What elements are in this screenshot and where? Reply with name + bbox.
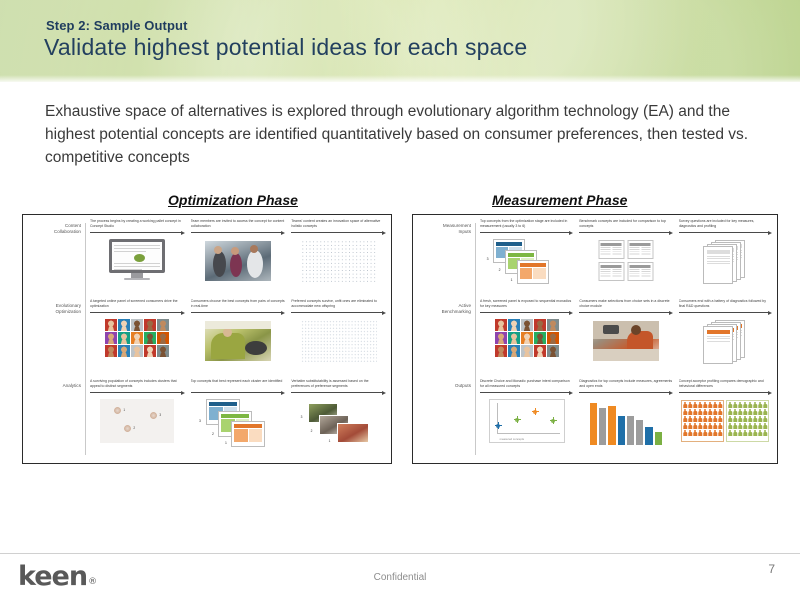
cell-caption: Preferred concepts survive, unfit ones a…: [291, 299, 386, 309]
consumer-panel-faces: [480, 317, 573, 369]
chart-bar: [627, 416, 634, 445]
arrow-icon: [191, 230, 286, 235]
face-thumbnail: [521, 319, 533, 331]
row-label-line: Content: [65, 223, 81, 228]
header-kicker: Step 2: Sample Output: [46, 18, 188, 33]
face-thumbnail: [547, 319, 559, 331]
person-icon: [748, 402, 752, 408]
arrow-icon: [579, 230, 672, 235]
face-thumbnail: [521, 345, 533, 357]
arrow-icon: [191, 310, 286, 315]
face-thumbnail: [157, 332, 169, 344]
person-icon: [693, 416, 697, 422]
person-icon: [683, 402, 687, 408]
face-thumbnail: [144, 345, 156, 357]
row-label-line: Benchmarking: [442, 309, 471, 314]
cell-caption: Concept acceptor profiling compares demo…: [679, 379, 772, 389]
panel-cell: Consumers end with a battery of diagnost…: [676, 299, 775, 377]
row-label: Outputs: [415, 383, 471, 389]
person-icon: [763, 402, 767, 408]
face-thumbnail: [495, 332, 507, 344]
demographic-people-grid: [679, 397, 772, 455]
person-icon: [688, 423, 692, 429]
panel-row: MeasurementInputs Top concepts from the …: [413, 219, 777, 297]
person-icon: [733, 423, 737, 429]
cell-caption: Benchmark concepts are included for comp…: [579, 219, 672, 229]
person-icon: [763, 423, 767, 429]
concept-cards-illustration: 3 2 1: [480, 237, 573, 289]
cell-caption: Top concepts that best represent each cl…: [191, 379, 286, 389]
footer-divider: [0, 553, 800, 554]
row-label: EvolutionaryOptimization: [25, 303, 81, 316]
person-icon: [758, 409, 762, 415]
person-icon: [698, 416, 702, 422]
concept-lattice-illustration: [291, 237, 386, 289]
person-icon: [753, 423, 757, 429]
measurement-panel: MeasurementInputs Top concepts from the …: [412, 214, 778, 464]
face-thumbnail: [131, 319, 143, 331]
cell-caption: Survey questions are included for key me…: [679, 219, 772, 229]
person-icon: [703, 402, 707, 408]
person-icon: [743, 409, 747, 415]
person-icon: [758, 423, 762, 429]
row-label-line: Outputs: [455, 383, 471, 388]
chart-bar: [608, 406, 615, 445]
arrow-icon: [579, 390, 672, 395]
person-icon: [728, 402, 732, 408]
panel-cell: Concept acceptor profiling compares demo…: [676, 379, 775, 463]
person-icon: [738, 423, 742, 429]
face-thumbnail: [105, 319, 117, 331]
person-icon: [718, 423, 722, 429]
person-icon: [763, 409, 767, 415]
cell-caption: Top concepts from the optimization stage…: [480, 219, 573, 229]
person-icon: [683, 416, 687, 422]
panel-row: Outputs Discrete Choice and Monadic purc…: [413, 379, 777, 463]
arrow-icon: [579, 310, 672, 315]
face-thumbnail: [534, 332, 546, 344]
person-icon: [708, 402, 712, 408]
row-label-line: Active: [458, 303, 471, 308]
face-thumbnail: [131, 332, 143, 344]
arrow-icon: [480, 310, 573, 315]
face-thumbnail: [547, 332, 559, 344]
chart-bar: [590, 403, 597, 445]
consumer-panel-faces: [90, 317, 185, 369]
cell-caption: The process begins by creating a working…: [90, 219, 185, 229]
person-icon: [748, 409, 752, 415]
person-icon: [753, 430, 757, 436]
person-icon: [733, 402, 737, 408]
panel-cell: A targeted online panel of screened cons…: [87, 299, 188, 377]
person-icon: [688, 402, 692, 408]
person-icon: [713, 430, 717, 436]
panel-row: EvolutionaryOptimization A targeted onli…: [23, 299, 391, 377]
panel-cell: Consumers choose the best concepts from …: [188, 299, 289, 377]
arrow-icon: [191, 390, 286, 395]
face-thumbnail: [534, 319, 546, 331]
arrow-icon: [90, 310, 185, 315]
person-icon: [748, 416, 752, 422]
panel-cell: Teams' content creates an innovation spa…: [288, 219, 389, 297]
slide-header: Step 2: Sample Output Validate highest p…: [0, 0, 800, 82]
panel-cell: Consumers make selections from choice se…: [576, 299, 675, 377]
person-icon: [758, 416, 762, 422]
face-thumbnail: [118, 332, 130, 344]
cell-caption: Verbatim substitutability is assessed ba…: [291, 379, 386, 389]
panel-cell: Team members are invited to access the c…: [188, 219, 289, 297]
person-icon: [698, 402, 702, 408]
panel-cell: A fresh, screened panel is exposed to se…: [477, 299, 576, 377]
person-icon: [733, 416, 737, 422]
cell-caption: Consumers end with a battery of diagnost…: [679, 299, 772, 309]
face-thumbnail: [495, 345, 507, 357]
face-thumbnail: [521, 332, 533, 344]
panel-row: Analytics A surviving population of conc…: [23, 379, 391, 463]
person-icon: [708, 416, 712, 422]
face-thumbnail: [534, 345, 546, 357]
cell-caption: Diagnostics for top concepts include mea…: [579, 379, 672, 389]
panel-cell: Discrete Choice and Monadic purchase int…: [477, 379, 576, 463]
person-icon: [688, 430, 692, 436]
person-icon: [718, 402, 722, 408]
cell-caption: Team members are invited to access the c…: [191, 219, 286, 229]
face-thumbnail: [508, 332, 520, 344]
row-label-line: Inputs: [458, 229, 471, 234]
person-icon: [693, 430, 697, 436]
optimization-phase-title: Optimization Phase: [168, 192, 298, 208]
cell-caption: A surviving population of concepts inclu…: [90, 379, 185, 389]
panel-cell: Benchmark concepts are included for comp…: [576, 219, 675, 297]
page-number: 7: [768, 562, 775, 576]
face-thumbnail: [118, 345, 130, 357]
panel-cell: Top concepts from the optimization stage…: [477, 219, 576, 297]
row-label-line: Measurement: [443, 223, 471, 228]
confidential-label: Confidential: [0, 572, 800, 583]
cell-caption: A fresh, screened panel is exposed to se…: [480, 299, 573, 309]
person-icon: [733, 409, 737, 415]
row-label-line: Optimization: [55, 309, 81, 314]
person-icon: [693, 423, 697, 429]
person-icon: [728, 416, 732, 422]
cell-caption: Consumers make selections from choice se…: [579, 299, 672, 309]
consumer-laptop-photo: [191, 317, 286, 369]
panel-cell: Preferred concepts survive, unfit ones a…: [288, 299, 389, 377]
person-icon: [703, 423, 707, 429]
person-icon: [713, 402, 717, 408]
person-icon: [683, 430, 687, 436]
row-label: Analytics: [25, 383, 81, 389]
panel-cell: Top concepts that best represent each cl…: [188, 379, 289, 463]
perceptual-map-chart: measured concepts: [480, 397, 573, 455]
arrow-icon: [291, 230, 386, 235]
person-icon: [743, 416, 747, 422]
arrow-icon: [679, 390, 772, 395]
face-thumbnail: [157, 319, 169, 331]
measurement-phase-title: Measurement Phase: [492, 192, 627, 208]
face-thumbnail: [547, 345, 559, 357]
face-thumbnail: [508, 319, 520, 331]
person-icon: [698, 430, 702, 436]
row-label-line: Analytics: [63, 383, 81, 388]
face-thumbnail: [495, 319, 507, 331]
person-icon: [738, 402, 742, 408]
chart-axis-caption: measured concepts: [500, 437, 524, 441]
person-icon: [753, 402, 757, 408]
row-label: ContentCollaboration: [25, 223, 81, 236]
person-icon: [708, 423, 712, 429]
person-icon: [763, 416, 767, 422]
person-icon: [728, 409, 732, 415]
person-icon: [718, 416, 722, 422]
cell-caption: Consumers choose the best concepts from …: [191, 299, 286, 309]
cell-caption: Teams' content creates an innovation spa…: [291, 219, 386, 229]
person-icon: [738, 409, 742, 415]
person-icon: [753, 416, 757, 422]
person-icon: [703, 416, 707, 422]
page-title: Validate highest potential ideas for eac…: [44, 34, 527, 61]
chart-bar: [645, 427, 652, 445]
panel-row: ContentCollaboration The process begins …: [23, 219, 391, 297]
optimization-panel: ContentCollaboration The process begins …: [22, 214, 392, 464]
arrow-icon: [90, 390, 185, 395]
survivor-scatter-illustration: [291, 317, 386, 369]
arrow-icon: [480, 390, 573, 395]
person-icon: [748, 430, 752, 436]
face-thumbnail: [144, 332, 156, 344]
person-icon: [718, 409, 722, 415]
panel-cell: Diagnostics for top concepts include mea…: [576, 379, 675, 463]
person-icon: [693, 402, 697, 408]
cluster-scatter-illustration: 1 2 3: [90, 397, 185, 455]
panel-row: ActiveBenchmarking A fresh, screened pan…: [413, 299, 777, 377]
panel-cell: The process begins by creating a working…: [87, 219, 188, 297]
face-thumbnail: [118, 319, 130, 331]
row-label: ActiveBenchmarking: [415, 303, 471, 316]
person-icon: [713, 423, 717, 429]
choice-task-photo: [579, 317, 672, 369]
row-label-line: Collaboration: [54, 229, 81, 234]
person-icon: [688, 416, 692, 422]
person-icon: [733, 430, 737, 436]
person-icon: [703, 409, 707, 415]
person-icon: [693, 409, 697, 415]
intro-paragraph: Exhaustive space of alternatives is expl…: [45, 100, 757, 169]
person-icon: [748, 423, 752, 429]
person-icon: [728, 423, 732, 429]
survey-pages-illustration: [679, 237, 772, 289]
person-icon: [758, 430, 762, 436]
panel-cell: Verbatim substitutability is assessed ba…: [288, 379, 389, 463]
arrow-icon: [291, 310, 386, 315]
person-icon: [763, 430, 767, 436]
person-icon: [728, 430, 732, 436]
benchmark-documents-grid: [579, 237, 672, 289]
collaboration-photo: [191, 237, 286, 289]
face-thumbnail: [105, 345, 117, 357]
person-icon: [758, 402, 762, 408]
face-thumbnail: [144, 319, 156, 331]
diagnostic-pages-illustration: [679, 317, 772, 369]
person-icon: [688, 409, 692, 415]
monitor-illustration: [90, 237, 185, 289]
arrow-icon: [291, 390, 386, 395]
segment-collage-illustration: 3 2 1: [291, 397, 386, 455]
person-icon: [713, 409, 717, 415]
panel-cell: Survey questions are included for key me…: [676, 219, 775, 297]
person-icon: [683, 423, 687, 429]
chart-bar: [636, 420, 643, 445]
person-icon: [683, 409, 687, 415]
person-icon: [743, 402, 747, 408]
arrow-icon: [679, 310, 772, 315]
face-thumbnail: [508, 345, 520, 357]
person-icon: [753, 409, 757, 415]
person-icon: [738, 416, 742, 422]
chart-bar: [655, 432, 662, 445]
person-icon: [718, 430, 722, 436]
person-icon: [708, 430, 712, 436]
face-thumbnail: [105, 332, 117, 344]
row-label-line: Evolutionary: [56, 303, 81, 308]
person-icon: [698, 409, 702, 415]
arrow-icon: [679, 230, 772, 235]
cell-caption: Discrete Choice and Monadic purchase int…: [480, 379, 573, 389]
chart-bar: [599, 408, 606, 445]
face-thumbnail: [157, 345, 169, 357]
panel-cell: A surviving population of concepts inclu…: [87, 379, 188, 463]
person-icon: [743, 423, 747, 429]
chart-bar: [618, 416, 625, 445]
person-icon: [713, 416, 717, 422]
person-icon: [743, 430, 747, 436]
person-icon: [738, 430, 742, 436]
cell-caption: A targeted online panel of screened cons…: [90, 299, 185, 309]
person-icon: [698, 423, 702, 429]
arrow-icon: [90, 230, 185, 235]
arrow-icon: [480, 230, 573, 235]
slide: Step 2: Sample Output Validate highest p…: [0, 0, 800, 600]
person-icon: [708, 409, 712, 415]
row-label: MeasurementInputs: [415, 223, 471, 236]
concept-cards-illustration: 3 2 1: [191, 397, 286, 455]
face-thumbnail: [131, 345, 143, 357]
diagnostics-bar-chart: [579, 397, 672, 455]
person-icon: [703, 430, 707, 436]
